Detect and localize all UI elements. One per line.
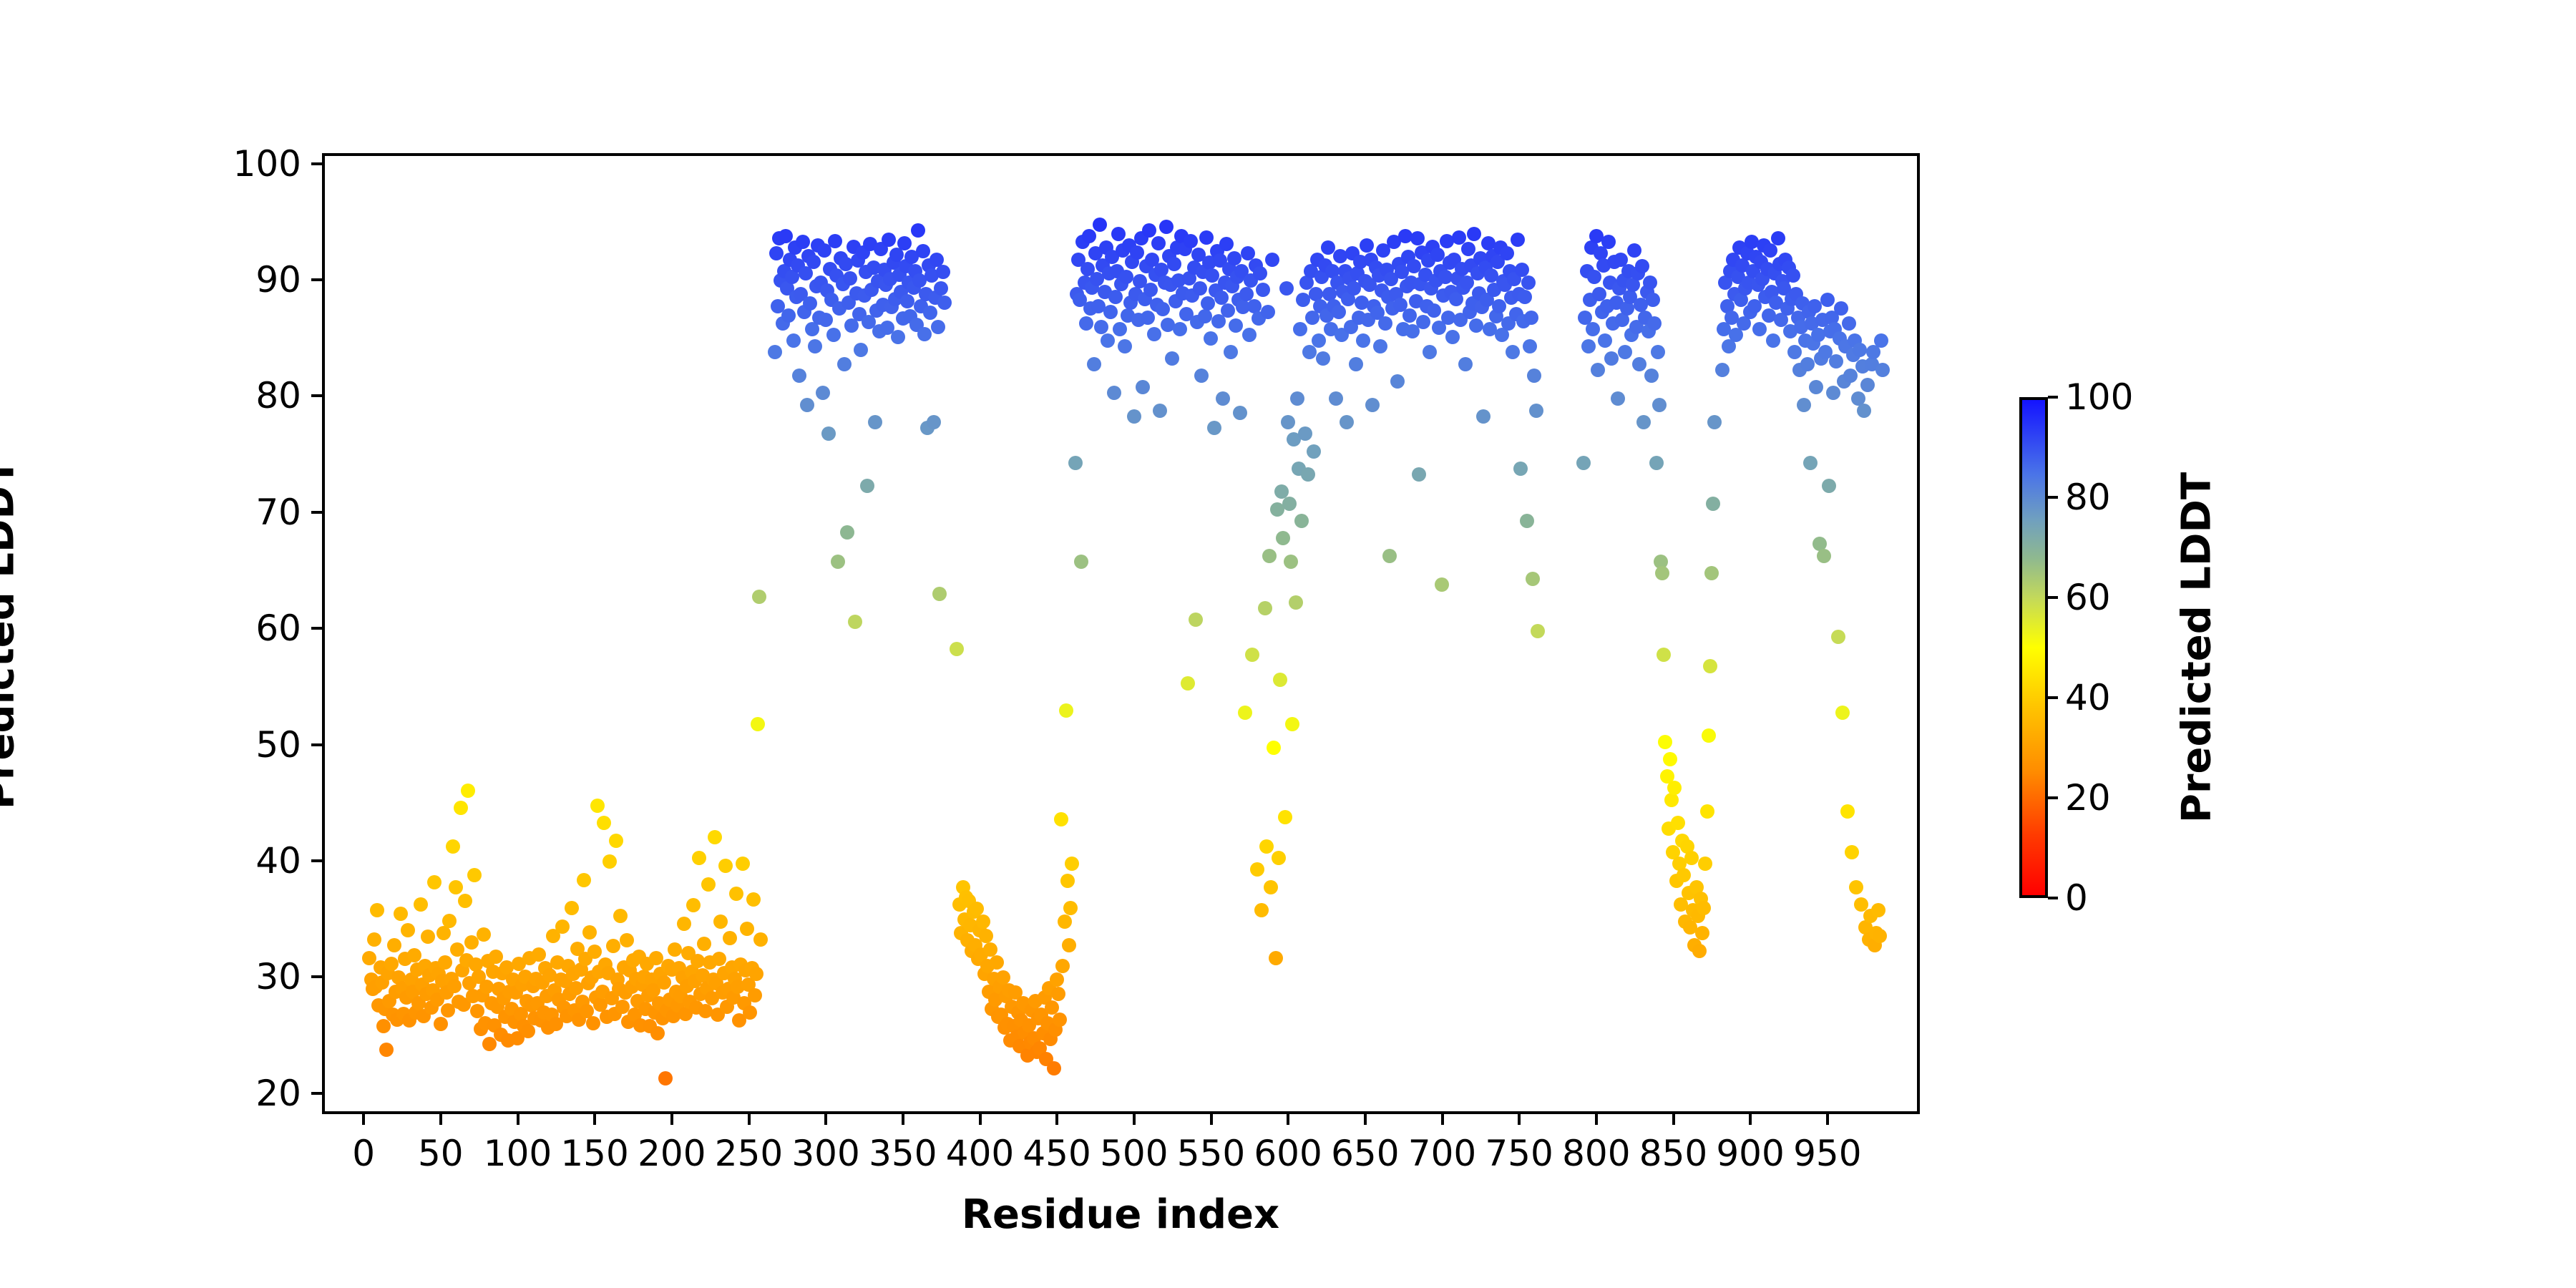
data-point xyxy=(1285,717,1299,731)
data-point xyxy=(1173,322,1187,336)
data-point xyxy=(1058,914,1072,929)
data-point xyxy=(1835,706,1850,720)
colorbar xyxy=(2019,397,2048,898)
data-point xyxy=(1644,369,1659,383)
data-point xyxy=(1269,951,1283,965)
x-tick-mark xyxy=(362,1114,365,1125)
data-point xyxy=(1382,549,1397,563)
data-point xyxy=(461,784,475,798)
data-point xyxy=(1849,880,1863,894)
data-point xyxy=(843,271,857,286)
data-point xyxy=(1093,218,1107,232)
data-point xyxy=(1119,270,1133,284)
data-point xyxy=(1874,333,1888,348)
data-point xyxy=(1349,357,1363,371)
data-point xyxy=(1715,363,1729,377)
data-point xyxy=(1281,415,1295,429)
data-point xyxy=(803,296,817,311)
data-point xyxy=(806,255,821,269)
data-point xyxy=(708,830,722,844)
x-tick-label: 0 xyxy=(352,1133,375,1174)
data-point xyxy=(976,914,990,929)
data-point xyxy=(796,235,810,249)
data-point xyxy=(1242,328,1257,342)
y-tick-label: 40 xyxy=(255,840,301,882)
data-point xyxy=(1258,601,1272,615)
data-point xyxy=(1524,311,1538,325)
data-point xyxy=(1521,275,1536,290)
data-point xyxy=(1079,316,1093,331)
data-point xyxy=(1136,380,1150,394)
data-point xyxy=(1142,223,1156,238)
data-point xyxy=(1365,398,1380,412)
data-point xyxy=(1254,903,1269,917)
data-point xyxy=(713,914,728,929)
data-point xyxy=(1707,415,1722,429)
data-point xyxy=(1307,444,1321,459)
data-point xyxy=(370,903,384,917)
data-point xyxy=(376,1019,391,1033)
data-point xyxy=(897,236,912,250)
data-point xyxy=(1340,415,1354,429)
data-point xyxy=(1204,331,1218,346)
data-point xyxy=(1677,868,1691,882)
x-tick-mark xyxy=(902,1114,904,1125)
data-point xyxy=(1469,318,1483,333)
data-point xyxy=(1101,333,1115,348)
data-point xyxy=(1853,343,1867,357)
data-point xyxy=(1265,253,1279,267)
data-point xyxy=(657,975,671,990)
data-point xyxy=(606,939,620,953)
data-point xyxy=(781,308,796,323)
data-point xyxy=(1803,456,1818,470)
y-tick-mark xyxy=(311,394,322,397)
data-point xyxy=(1054,812,1068,826)
data-point xyxy=(1658,735,1672,749)
data-point xyxy=(1581,339,1596,353)
data-point xyxy=(1151,236,1166,250)
data-point xyxy=(1373,339,1387,353)
data-point xyxy=(1840,804,1855,819)
data-point xyxy=(394,907,408,921)
x-tick-label: 650 xyxy=(1331,1133,1399,1174)
x-tick-mark xyxy=(1210,1114,1213,1125)
data-point xyxy=(1216,391,1230,406)
data-point xyxy=(1302,345,1317,359)
x-tick-label: 50 xyxy=(418,1133,464,1174)
data-point xyxy=(1627,243,1641,258)
data-point xyxy=(840,525,854,540)
data-point xyxy=(1065,857,1079,871)
data-point xyxy=(1256,283,1270,297)
data-point xyxy=(1050,972,1064,987)
data-point xyxy=(613,909,628,923)
data-point xyxy=(1165,351,1179,366)
data-point xyxy=(1695,926,1709,940)
data-point xyxy=(1857,404,1871,418)
data-point xyxy=(658,1071,673,1085)
data-point xyxy=(729,887,743,901)
data-point xyxy=(1655,566,1669,580)
data-point xyxy=(1829,354,1843,369)
data-point xyxy=(521,1024,535,1038)
data-point xyxy=(1636,415,1651,429)
data-point xyxy=(990,955,1004,970)
data-point xyxy=(1289,595,1303,610)
data-point xyxy=(1074,555,1088,569)
x-tick-mark xyxy=(517,1114,519,1125)
plot-area xyxy=(322,153,1920,1114)
x-tick-mark xyxy=(748,1114,751,1125)
data-point xyxy=(1047,1061,1061,1075)
x-tick-label: 350 xyxy=(869,1133,937,1174)
data-point xyxy=(1189,613,1203,627)
data-point xyxy=(367,932,381,947)
x-tick-label: 800 xyxy=(1562,1133,1630,1174)
data-point xyxy=(1427,303,1441,318)
data-point xyxy=(1467,227,1481,241)
data-point xyxy=(1809,380,1823,394)
y-tick-label: 20 xyxy=(255,1073,301,1114)
data-point xyxy=(800,398,814,412)
x-tick-label: 600 xyxy=(1254,1133,1322,1174)
data-point xyxy=(1587,270,1601,284)
data-point xyxy=(1253,266,1267,280)
data-point xyxy=(723,931,737,945)
data-point xyxy=(1356,333,1370,348)
x-tick-label: 100 xyxy=(484,1133,552,1174)
data-point xyxy=(1697,901,1711,915)
x-tick-label: 850 xyxy=(1639,1133,1707,1174)
y-tick-label: 60 xyxy=(255,608,301,649)
data-point xyxy=(1646,293,1660,307)
data-point xyxy=(1261,305,1275,319)
data-point xyxy=(1264,880,1278,894)
data-point xyxy=(1787,345,1802,359)
colorbar-tick-label: 0 xyxy=(2065,877,2088,919)
data-point xyxy=(1684,851,1699,865)
data-point xyxy=(1193,281,1207,296)
data-point xyxy=(1156,302,1170,316)
data-point xyxy=(1652,398,1667,412)
data-point xyxy=(936,265,950,279)
data-point xyxy=(751,717,765,731)
data-point xyxy=(1290,391,1304,406)
data-point xyxy=(1611,391,1625,406)
data-point xyxy=(937,296,952,310)
data-point xyxy=(1416,315,1430,329)
data-point xyxy=(1316,351,1330,366)
data-point xyxy=(1219,237,1234,251)
data-point xyxy=(752,590,766,604)
data-point xyxy=(1412,467,1426,482)
data-point xyxy=(868,415,882,429)
colorbar-tick-label: 40 xyxy=(2065,677,2111,718)
data-point xyxy=(477,927,491,942)
colorbar-tick-label: 20 xyxy=(2065,777,2111,819)
data-point xyxy=(1159,220,1174,234)
data-point xyxy=(1871,903,1885,917)
data-point xyxy=(828,234,842,248)
colorbar-tick-mark xyxy=(2048,496,2058,499)
data-point xyxy=(1068,456,1083,470)
data-point xyxy=(1618,345,1632,359)
data-point xyxy=(792,369,806,383)
x-tick-label: 700 xyxy=(1408,1133,1476,1174)
data-point xyxy=(1513,462,1528,476)
data-point xyxy=(718,859,733,873)
data-point xyxy=(1259,839,1274,854)
data-point xyxy=(1445,330,1460,344)
colorbar-tick-mark xyxy=(2048,596,2058,599)
data-point xyxy=(1822,479,1836,493)
data-point xyxy=(1094,320,1108,334)
data-point xyxy=(1520,514,1534,528)
data-point xyxy=(436,926,451,940)
data-point xyxy=(1111,227,1126,241)
data-point xyxy=(1797,398,1811,412)
data-point xyxy=(582,925,597,940)
data-point xyxy=(740,922,754,936)
data-point xyxy=(768,345,782,359)
data-point xyxy=(1087,357,1101,371)
data-point xyxy=(1082,229,1096,243)
data-point xyxy=(1332,305,1346,319)
data-point xyxy=(1657,648,1671,662)
data-point xyxy=(590,799,605,813)
data-point xyxy=(1184,234,1198,248)
data-point xyxy=(1051,987,1065,1001)
data-point xyxy=(597,816,611,830)
data-point xyxy=(677,917,691,931)
data-point xyxy=(1492,299,1506,313)
data-point xyxy=(808,339,822,353)
data-point xyxy=(379,1043,394,1057)
x-tick-label: 500 xyxy=(1100,1133,1168,1174)
data-point xyxy=(900,294,914,308)
x-tick-mark xyxy=(1595,1114,1598,1125)
data-point xyxy=(1272,851,1286,865)
data-point xyxy=(1199,230,1214,245)
data-point xyxy=(821,426,836,441)
data-point xyxy=(1390,374,1405,389)
y-tick-mark xyxy=(311,859,322,862)
colorbar-label: Predicted LDDT xyxy=(2174,472,2220,823)
data-point xyxy=(816,386,830,400)
data-point xyxy=(414,897,428,912)
data-point xyxy=(587,945,602,959)
colorbar-tick-mark xyxy=(2048,897,2058,899)
data-point xyxy=(1598,333,1612,348)
x-tick-mark xyxy=(824,1114,827,1125)
data-point xyxy=(384,957,399,971)
data-point xyxy=(1527,369,1541,383)
data-point xyxy=(427,875,441,889)
data-point xyxy=(931,320,945,334)
data-point xyxy=(950,642,964,656)
data-point xyxy=(1378,316,1392,331)
data-point xyxy=(1198,309,1212,323)
x-tick-mark xyxy=(1055,1114,1058,1125)
data-point xyxy=(916,244,930,258)
data-point xyxy=(1103,305,1118,319)
data-point xyxy=(421,930,435,944)
data-point xyxy=(1506,345,1520,359)
data-point xyxy=(1435,577,1449,592)
data-point xyxy=(1647,316,1662,331)
data-point xyxy=(692,851,706,865)
data-point xyxy=(1873,929,1887,943)
data-point xyxy=(736,857,750,871)
data-point xyxy=(1500,246,1514,260)
x-tick-mark xyxy=(670,1114,673,1125)
data-point xyxy=(1227,251,1241,265)
x-tick-mark xyxy=(1672,1114,1675,1125)
colorbar-tick-label: 60 xyxy=(2065,577,2111,618)
y-tick-label: 30 xyxy=(255,956,301,997)
data-point xyxy=(1279,281,1294,296)
y-tick-mark xyxy=(311,162,322,165)
data-point xyxy=(882,233,896,247)
x-tick-label: 200 xyxy=(638,1133,706,1174)
data-point xyxy=(769,246,784,260)
data-point xyxy=(449,880,463,894)
data-point xyxy=(1167,257,1181,271)
x-axis-label: Residue index xyxy=(962,1191,1279,1238)
data-point xyxy=(1817,549,1831,563)
data-point xyxy=(1055,959,1070,973)
x-tick-mark xyxy=(979,1114,982,1125)
y-tick-mark xyxy=(311,511,322,514)
data-point xyxy=(1843,369,1858,383)
data-point xyxy=(442,914,457,928)
y-tick-label: 50 xyxy=(255,724,301,766)
x-tick-mark xyxy=(439,1114,442,1125)
data-point xyxy=(1294,514,1309,528)
data-point xyxy=(1518,290,1532,304)
data-point xyxy=(1329,391,1343,406)
data-point xyxy=(1245,648,1259,662)
x-tick-label: 750 xyxy=(1485,1133,1553,1174)
x-tick-label: 400 xyxy=(946,1133,1014,1174)
data-point xyxy=(586,1016,600,1030)
data-point xyxy=(1201,296,1215,311)
data-point xyxy=(819,313,833,327)
data-point xyxy=(458,894,472,908)
colorbar-tick-mark xyxy=(2048,396,2058,399)
data-point xyxy=(848,615,862,629)
data-point xyxy=(1267,741,1281,755)
data-point xyxy=(701,877,716,892)
data-point xyxy=(1692,944,1707,958)
data-point xyxy=(826,328,841,342)
data-point xyxy=(837,357,852,371)
plddt-scatter-figure: Predicted LDDT 2030405060708090100050100… xyxy=(0,0,2576,1288)
data-point xyxy=(387,938,401,952)
data-point xyxy=(1826,386,1840,400)
data-point xyxy=(577,873,591,887)
data-point xyxy=(401,923,415,937)
x-tick-mark xyxy=(1441,1114,1444,1125)
data-point xyxy=(446,839,460,854)
x-tick-label: 150 xyxy=(560,1133,628,1174)
data-point xyxy=(1312,333,1326,348)
data-point xyxy=(1207,421,1221,435)
data-point xyxy=(438,955,452,970)
data-point xyxy=(1141,311,1155,325)
data-point xyxy=(1601,235,1616,249)
data-point xyxy=(1238,706,1252,720)
data-point xyxy=(1108,290,1123,304)
x-tick-mark xyxy=(1133,1114,1136,1125)
data-point xyxy=(447,979,462,993)
x-tick-mark xyxy=(1826,1114,1829,1125)
data-point xyxy=(1458,357,1473,371)
data-point xyxy=(1667,781,1682,795)
data-point xyxy=(620,933,634,947)
data-point xyxy=(1786,268,1800,283)
data-point xyxy=(934,281,948,296)
data-point xyxy=(979,929,993,943)
data-point xyxy=(565,901,579,915)
data-point xyxy=(1643,275,1657,290)
data-point xyxy=(753,932,768,947)
data-point xyxy=(1531,624,1545,638)
data-point xyxy=(1703,659,1717,673)
data-point xyxy=(1586,322,1600,336)
data-point xyxy=(1698,857,1712,871)
data-point xyxy=(1063,901,1078,915)
data-point xyxy=(1147,327,1161,341)
data-point xyxy=(1845,845,1859,859)
data-point xyxy=(1635,259,1649,273)
data-point xyxy=(1153,404,1167,418)
data-point xyxy=(1632,357,1646,371)
colorbar-gradient xyxy=(2019,397,2048,898)
data-point xyxy=(748,988,762,1002)
data-point xyxy=(434,1017,448,1031)
x-tick-label: 550 xyxy=(1177,1133,1245,1174)
data-point xyxy=(467,868,482,882)
data-point xyxy=(1127,409,1141,424)
data-point xyxy=(1053,1013,1067,1027)
data-point xyxy=(1529,404,1543,418)
y-axis-label: Predicted LDDT xyxy=(0,459,24,809)
colorbar-tick-label: 100 xyxy=(2065,376,2133,418)
data-point xyxy=(1702,728,1716,743)
data-point xyxy=(786,333,801,348)
data-point xyxy=(1461,242,1475,256)
data-point xyxy=(854,343,868,357)
data-point xyxy=(743,1005,757,1020)
data-point xyxy=(1766,333,1780,348)
data-point xyxy=(668,942,682,957)
data-point xyxy=(1842,316,1856,331)
data-point xyxy=(1224,345,1238,359)
data-point xyxy=(454,801,468,815)
data-point xyxy=(555,919,570,934)
data-point xyxy=(891,330,905,344)
data-point xyxy=(1800,357,1815,371)
scatter-points-layer xyxy=(325,156,1917,1111)
data-point xyxy=(1576,456,1591,470)
y-tick-label: 80 xyxy=(255,375,301,416)
data-point xyxy=(1276,531,1290,545)
x-tick-label: 950 xyxy=(1793,1133,1861,1174)
x-tick-mark xyxy=(1749,1114,1752,1125)
data-point xyxy=(927,415,941,429)
